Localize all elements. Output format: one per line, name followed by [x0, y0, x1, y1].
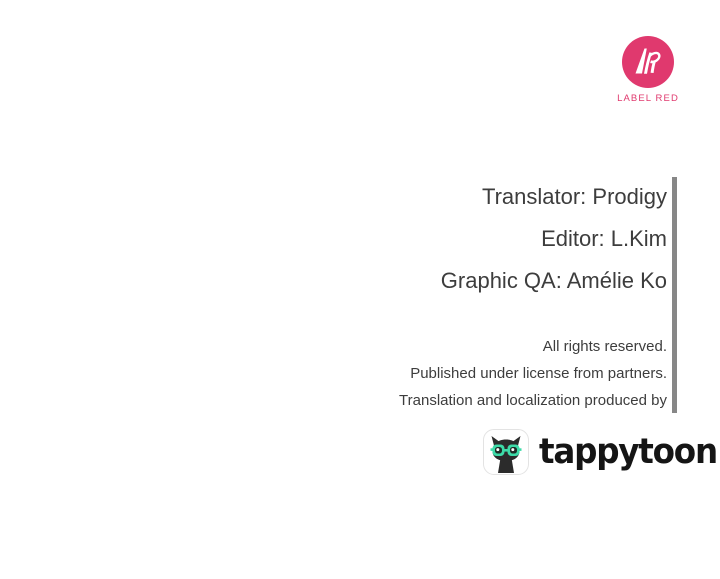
legal-line-license: Published under license from partners.: [180, 360, 667, 387]
label-red-logo: LABEL RED: [608, 36, 688, 114]
legal-block: All rights reserved. Published under lic…: [180, 333, 667, 414]
tappytoon-cat-icon: [483, 429, 529, 475]
credit-line-translator: Translator: Prodigy: [180, 176, 667, 218]
label-red-wordmark: LABEL RED: [617, 94, 679, 104]
legal-line-producer: Translation and localization produced by: [180, 387, 667, 414]
credits-page: LABEL RED Translator: Prodigy Editor: L.…: [0, 0, 720, 579]
credit-line-editor: Editor: L.Kim: [180, 218, 667, 260]
credit-line-graphic-qa: Graphic QA: Amélie Ko: [180, 260, 667, 302]
label-red-monogram-icon: [622, 36, 674, 88]
vertical-gray-bar: [672, 177, 677, 413]
credits-block: Translator: Prodigy Editor: L.Kim Graphi…: [180, 176, 667, 302]
tappytoon-wordmark: tappytoon: [539, 435, 717, 470]
legal-line-rights: All rights reserved.: [180, 333, 667, 360]
tappytoon-logo: tappytoon: [483, 429, 720, 475]
